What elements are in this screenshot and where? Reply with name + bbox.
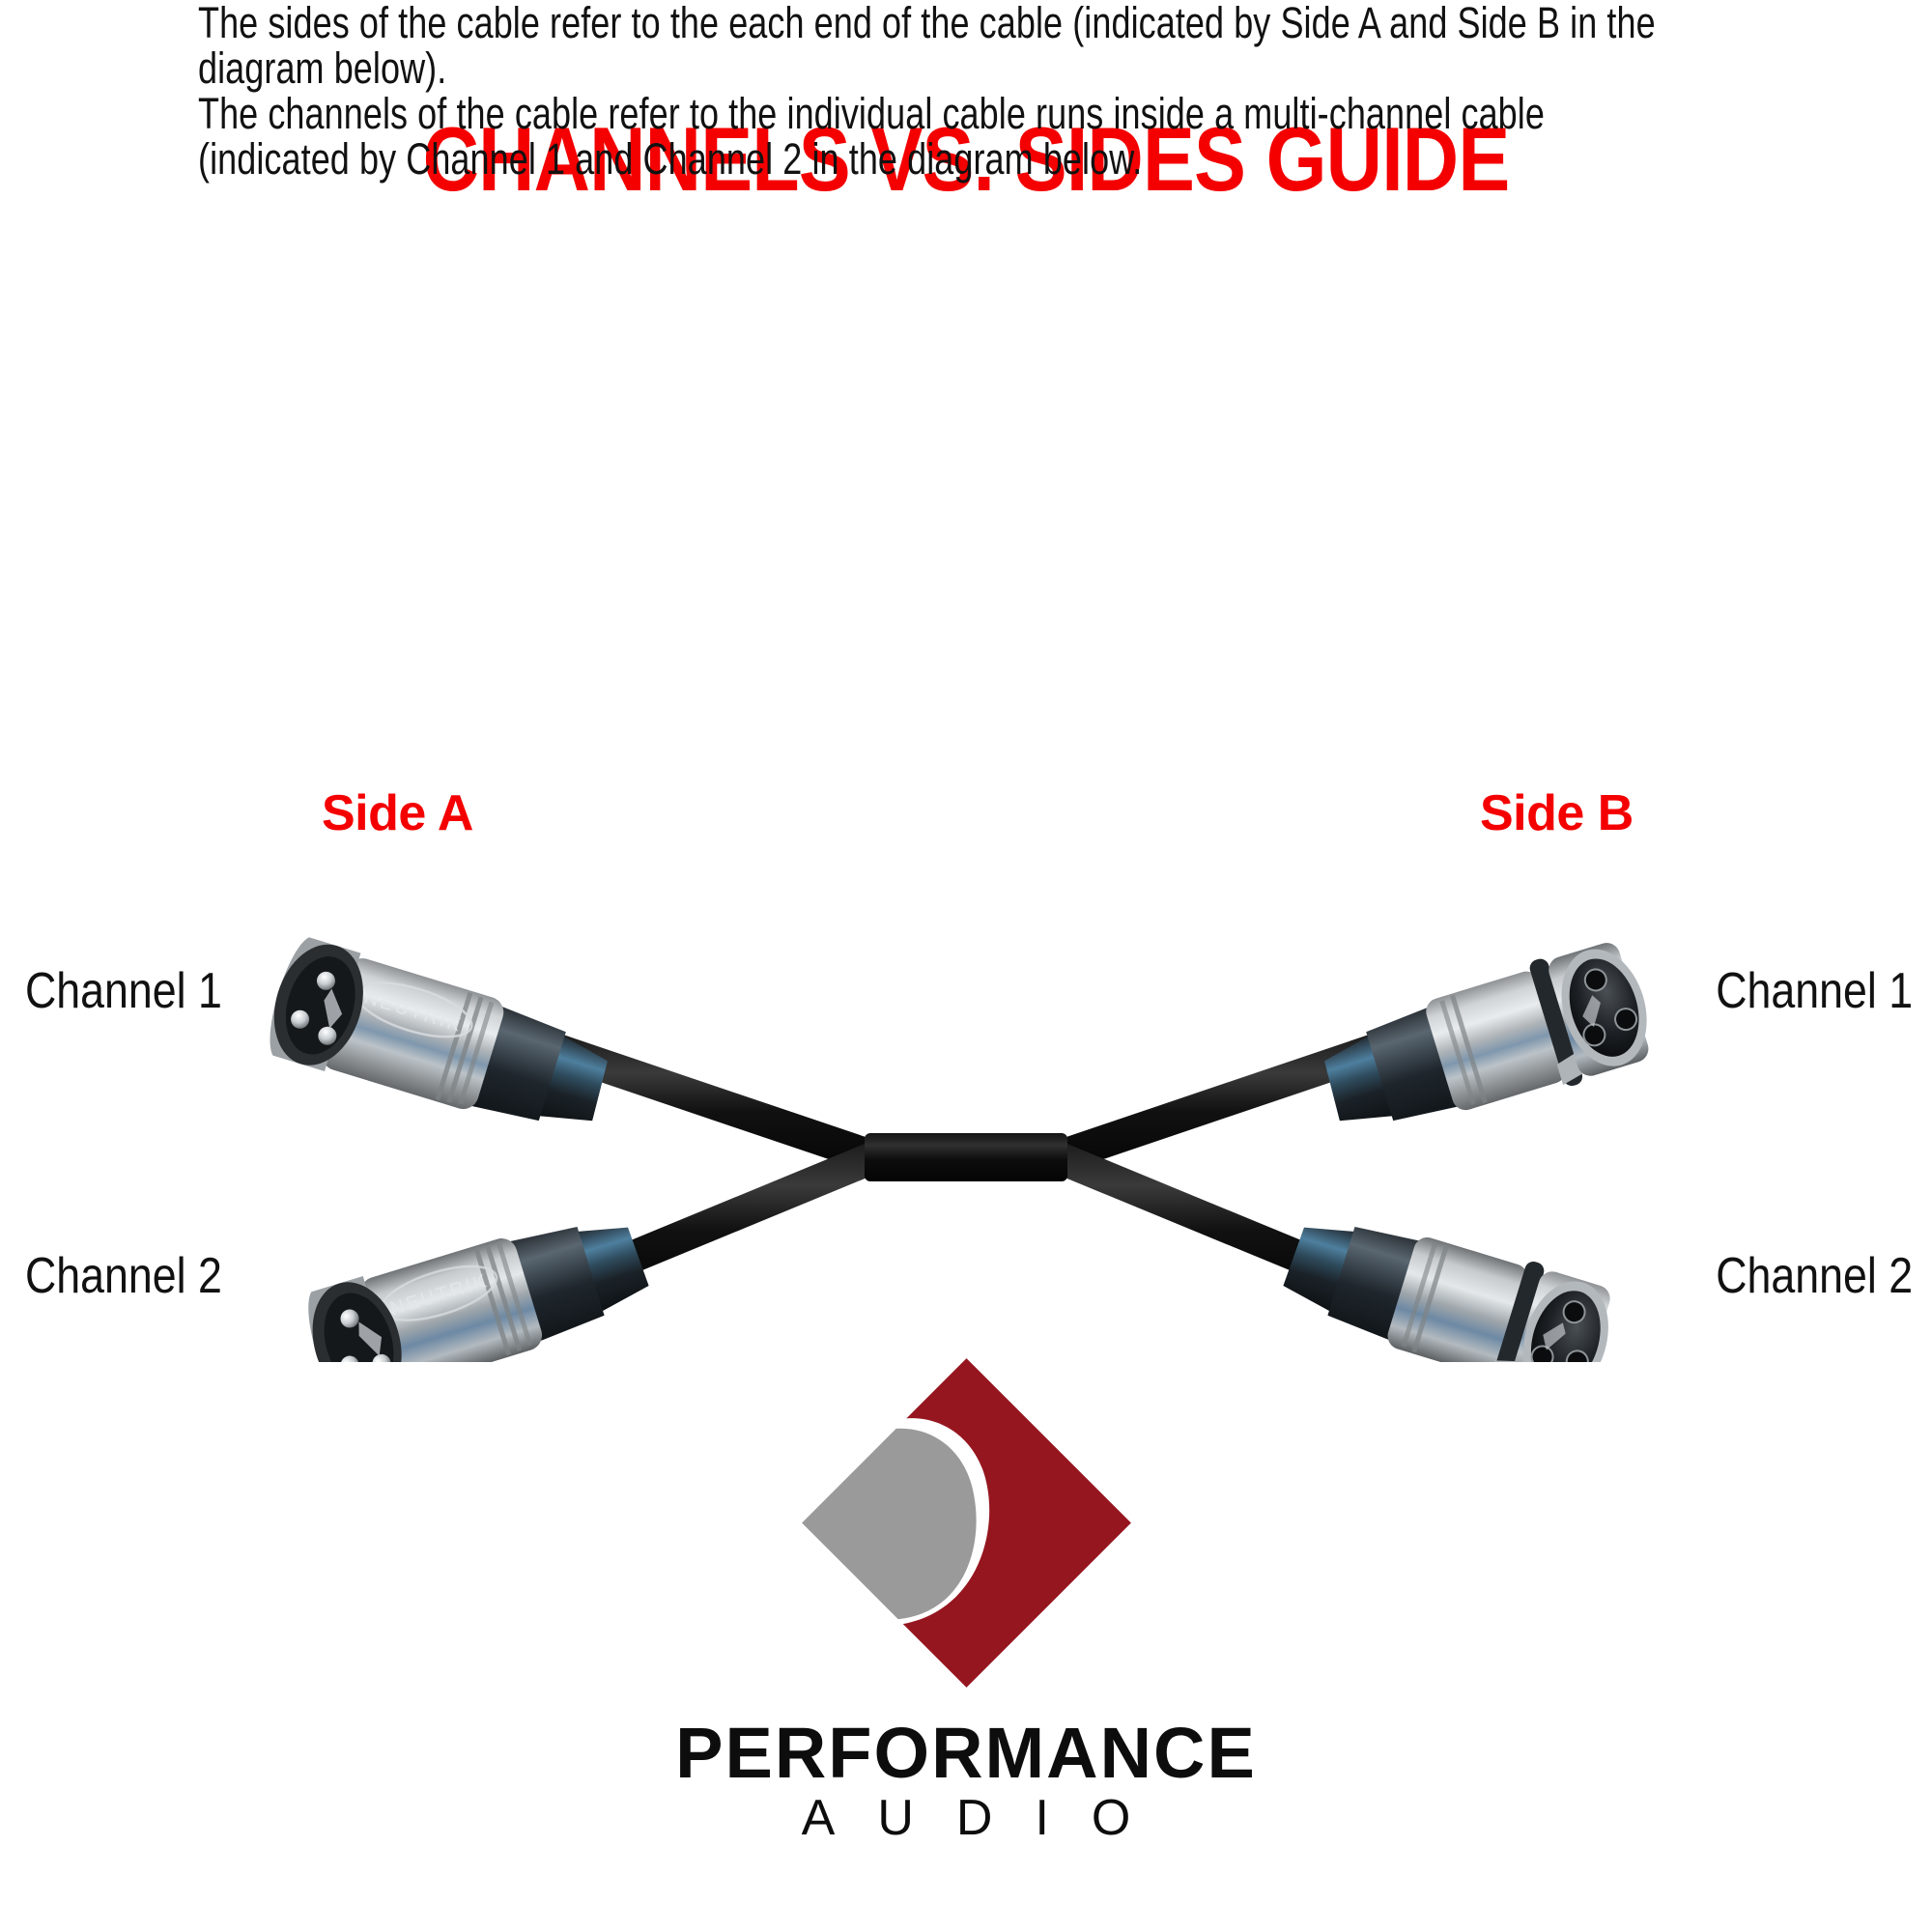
paragraph-channels: The channels of the cable refer to the i… xyxy=(198,91,1705,182)
side-b-label: Side B xyxy=(1480,784,1634,842)
cable-run-channel-1-a xyxy=(560,1034,874,1175)
guide-page: CHANNELS VS. SIDES GUIDE The sides of th… xyxy=(0,0,1932,1932)
cable-run-channel-1-b xyxy=(1058,1034,1372,1175)
performance-audio-logo-mark xyxy=(800,1356,1133,1690)
logo-wordmark-performance: PERFORMANCE xyxy=(0,1712,1932,1794)
cable-diagram: NEUTRIK NEUTRIK xyxy=(0,898,1932,1362)
body-copy: The sides of the cable refer to the each… xyxy=(198,0,1705,182)
cable-runs xyxy=(560,1034,1372,1304)
cable-trunk xyxy=(865,1133,1067,1181)
connector-side-b-channel-1 xyxy=(1312,933,1662,1154)
side-a-label: Side A xyxy=(322,784,473,842)
connector-side-b-channel-2 xyxy=(1273,1193,1624,1362)
logo-wordmark-audio: AUDIO xyxy=(0,1789,1932,1847)
connector-side-a-channel-2: NEUTRIK xyxy=(298,1197,658,1362)
paragraph-sides: The sides of the cable refer to the each… xyxy=(198,0,1705,91)
connector-side-a-channel-1: NEUTRIK xyxy=(260,933,619,1151)
